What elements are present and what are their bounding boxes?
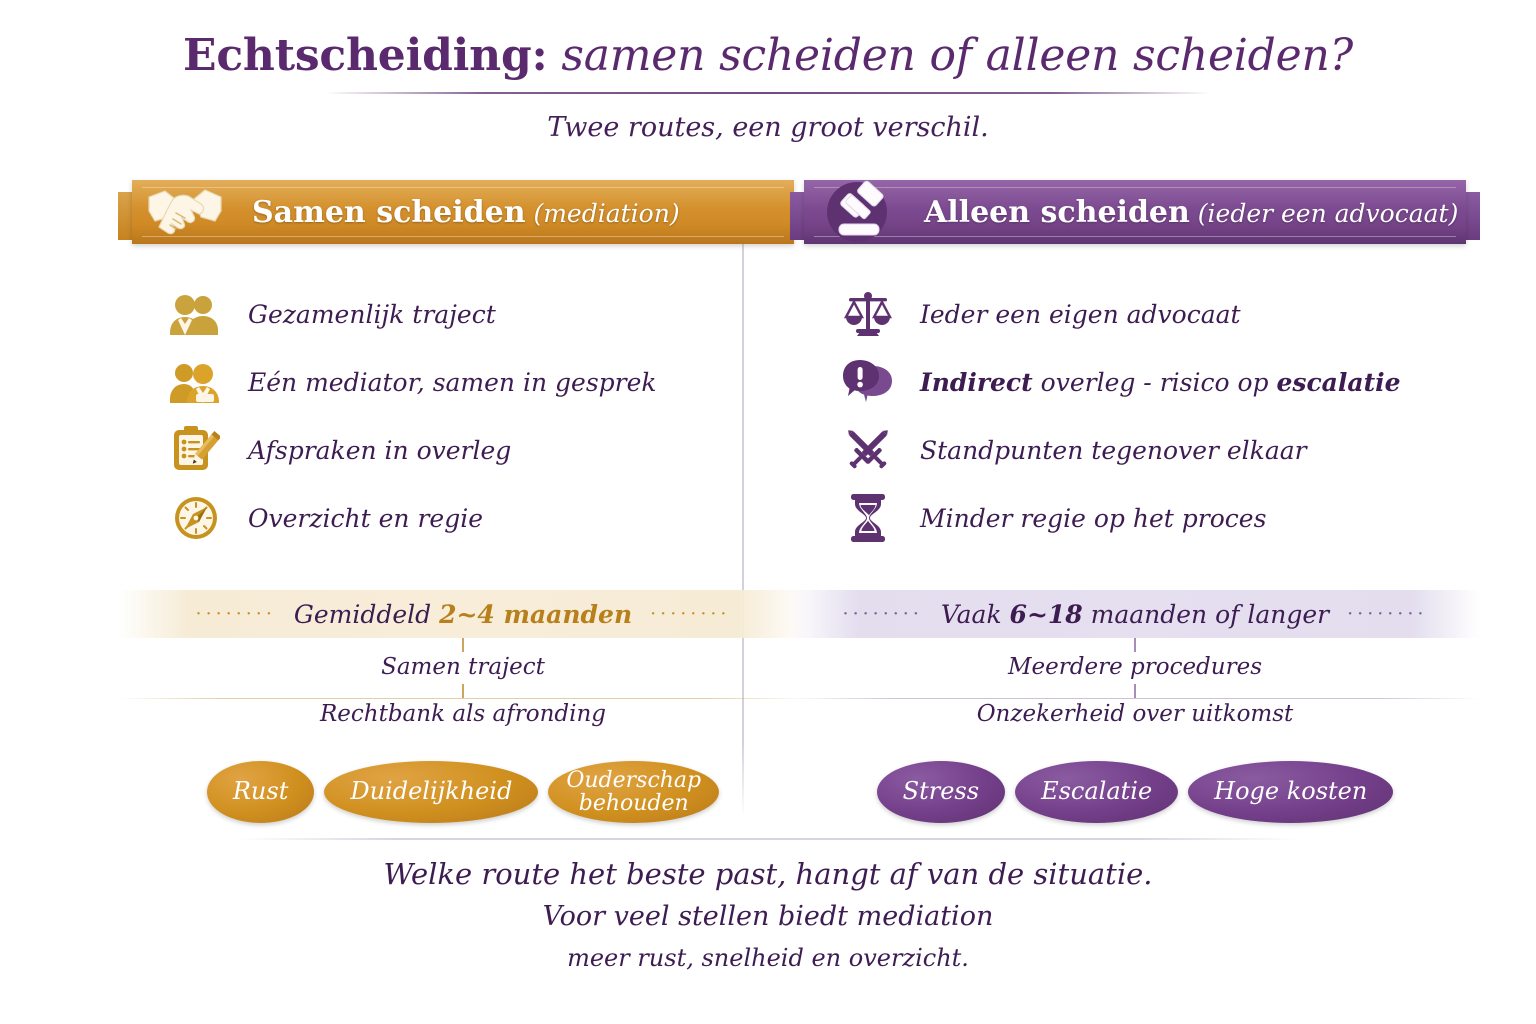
banner-paren-right: (ieder een advocaat)	[1190, 199, 1459, 228]
timeline-band-left: ········ Gemiddeld 2~4 maanden ········	[118, 590, 808, 638]
timeline-right: ········ Vaak 6~18 maanden of langer ···…	[790, 590, 1480, 731]
outcome-pills-left: Rust Duidelijkheid Ouderschapbehouden	[118, 761, 808, 823]
crossed-swords-icon	[840, 424, 896, 476]
feature-item: Gezamenlijk traject	[168, 280, 808, 348]
mediator-people-icon	[168, 356, 224, 408]
feature-label: Ieder een eigen advocaat	[920, 300, 1241, 329]
outcome-pill[interactable]: Escalatie	[1015, 761, 1178, 823]
dotted-leader-right: ········	[650, 605, 730, 624]
banner-title-left: Samen scheiden	[252, 195, 526, 230]
handshake-icon	[142, 170, 228, 250]
speech-bubbles-alert-icon	[840, 356, 896, 408]
feature-label: Minder regie op het proces	[920, 504, 1266, 533]
timeline-band-right: ········ Vaak 6~18 maanden of langer ···…	[790, 590, 1480, 638]
timeline-tick	[462, 684, 464, 698]
ribbon-body: Alleen scheiden (ieder een advocaat)	[804, 180, 1466, 244]
infographic-canvas: Echtscheiding: samen scheiden of alleen …	[0, 0, 1536, 1024]
compass-icon	[168, 492, 224, 544]
timeline-duration-left: Gemiddeld 2~4 maanden	[294, 600, 632, 629]
ribbon-body: Samen scheiden (mediation)	[132, 180, 794, 244]
outcome-pill[interactable]: Duidelijkheid	[324, 761, 538, 823]
feature-item: Ieder een eigen advocaat	[840, 280, 1480, 348]
feature-item: Afspraken in overleg	[168, 416, 808, 484]
duration-suffix: maanden of langer	[1083, 600, 1329, 629]
page-title-bold: Echtscheiding:	[183, 30, 548, 81]
page-title-italic: samen scheiden of alleen scheiden?	[548, 30, 1353, 81]
footer-divider	[238, 838, 1298, 840]
timeline-step: Meerdere procedures	[790, 652, 1480, 684]
banner-samen-scheiden: Samen scheiden (mediation)	[118, 178, 808, 254]
banner-alleen-scheiden: Alleen scheiden (ieder een advocaat)	[790, 178, 1480, 254]
feature-item: Overzicht en regie	[168, 484, 808, 552]
banner-title-right: Alleen scheiden	[924, 195, 1190, 230]
outcome-pill[interactable]: Hoge kosten	[1188, 761, 1393, 823]
banner-label-right: Alleen scheiden (ieder een advocaat)	[924, 195, 1458, 230]
outcome-pills-right: Stress Escalatie Hoge kosten	[790, 761, 1480, 823]
dotted-leader-right: ········	[1347, 605, 1427, 624]
footer-line-1: Welke route het beste past, hangt af van…	[0, 852, 1536, 896]
duration-value: 6~18	[1010, 600, 1083, 629]
feature-item: Minder regie op het proces	[840, 484, 1480, 552]
gavel-icon	[814, 170, 900, 250]
banner-paren-left: (mediation)	[526, 199, 680, 228]
timeline-step: Rechtbank als afronding	[118, 699, 808, 731]
timeline-step: Onzekerheid over uitkomst	[790, 699, 1480, 731]
outcome-pill[interactable]: Stress	[877, 761, 1005, 823]
feature-item: Standpunten tegenover elkaar	[840, 416, 1480, 484]
timeline-duration-right: Vaak 6~18 maanden of langer	[941, 600, 1329, 629]
footer-line-2: Voor veel stellen biedt mediation	[0, 896, 1536, 938]
title-divider	[325, 92, 1211, 94]
two-people-icon	[168, 288, 224, 340]
scales-icon	[840, 288, 896, 340]
feature-label: Indirect overleg - risico op escalatie	[920, 368, 1401, 397]
header: Echtscheiding: samen scheiden of alleen …	[0, 28, 1536, 143]
outcome-pill[interactable]: Rust	[207, 761, 315, 823]
timeline-tick	[1134, 638, 1136, 652]
comparison-columns: Samen scheiden (mediation)	[0, 178, 1536, 838]
footer: Welke route het beste past, hangt af van…	[0, 852, 1536, 978]
column-alleen-scheiden: Alleen scheiden (ieder een advocaat)	[790, 178, 1480, 823]
feature-label: Afspraken in overleg	[248, 436, 511, 465]
duration-prefix: Vaak	[941, 600, 1010, 629]
duration-value: 2~4 maanden	[439, 600, 632, 629]
feature-item: Eén mediator, samen in gesprek	[168, 348, 808, 416]
clipboard-pencil-icon	[168, 424, 224, 476]
timeline-tick	[1134, 684, 1136, 698]
timeline-step: Samen traject	[118, 652, 808, 684]
banner-label-left: Samen scheiden (mediation)	[252, 195, 680, 230]
hourglass-icon	[840, 492, 896, 544]
page-subtitle: Twee routes, een groot verschil.	[0, 112, 1536, 143]
column-samen-scheiden: Samen scheiden (mediation)	[118, 178, 808, 823]
timeline-left: ········ Gemiddeld 2~4 maanden ········ …	[118, 590, 808, 731]
timeline-tick	[462, 638, 464, 652]
outcome-pill[interactable]: Ouderschapbehouden	[548, 761, 719, 823]
feature-label: Eén mediator, samen in gesprek	[248, 368, 657, 397]
feature-label: Standpunten tegenover elkaar	[920, 436, 1307, 465]
dotted-leader-left: ········	[843, 605, 923, 624]
feature-list-left: Gezamenlijk traject	[118, 280, 808, 552]
page-title: Echtscheiding: samen scheiden of alleen …	[0, 28, 1536, 84]
footer-line-3: meer rust, snelheid en overzicht.	[0, 938, 1536, 978]
duration-prefix: Gemiddeld	[294, 600, 439, 629]
feature-label: Gezamenlijk traject	[248, 300, 496, 329]
feature-list-right: Ieder een eigen advocaat Indirect overle…	[790, 280, 1480, 552]
feature-label: Overzicht en regie	[248, 504, 483, 533]
dotted-leader-left: ········	[196, 605, 276, 624]
feature-item: Indirect overleg - risico op escalatie	[840, 348, 1480, 416]
